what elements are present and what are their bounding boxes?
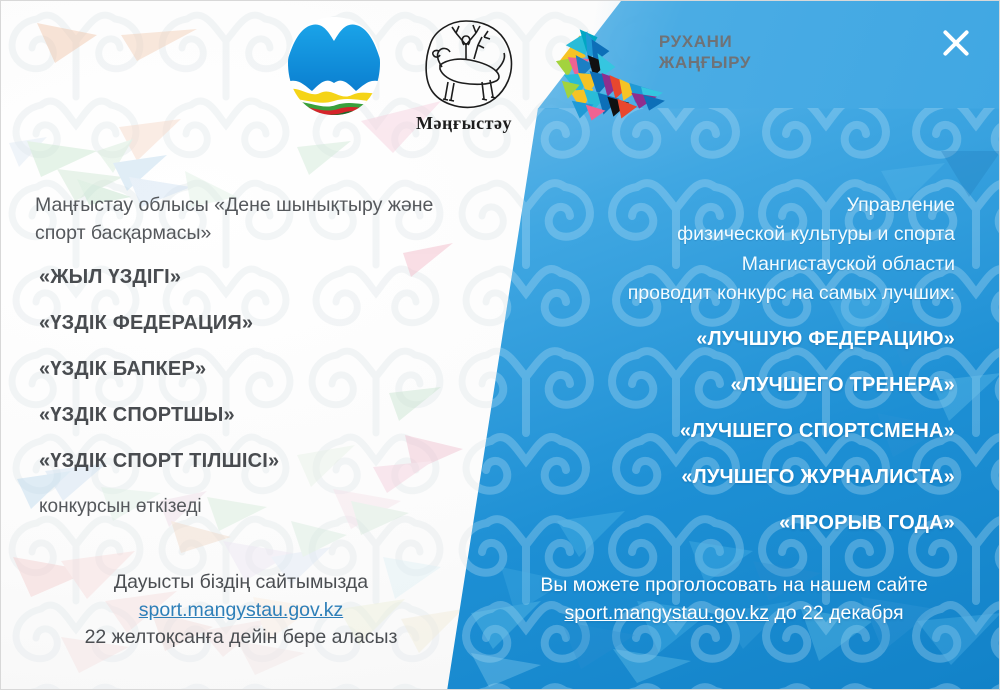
russian-nomination-5: «ПРОРЫВ ГОДА» bbox=[535, 512, 955, 535]
logo-row: Мәңғыстәу bbox=[286, 15, 746, 143]
russian-footer: Вы можете проголосовать на нашем сайте s… bbox=[499, 571, 969, 628]
kazakh-nomination-4: «ҮЗДІК СПОРТШЫ» bbox=[39, 404, 465, 427]
close-button[interactable] bbox=[939, 24, 973, 58]
kazakh-footer: Дауысты біздің сайтымызда sport.mangysta… bbox=[41, 569, 441, 652]
kazakh-nomination-3: «ҮЗДІК БАПКЕР» bbox=[39, 358, 465, 381]
kazakh-content: Маңғыстау облысы «Дене шынықтыру және сп… bbox=[35, 191, 465, 518]
russian-intro-line1: Управление bbox=[535, 191, 955, 220]
russian-intro: Управление физической культуры и спорта … bbox=[535, 191, 955, 308]
promo-poster: Мәңғыстәу bbox=[0, 0, 1000, 690]
russian-footer-line2: sport.mangystau.gov.kz до 22 декабря bbox=[499, 599, 969, 627]
kazakh-footer-deadline: 22 желтоқсанға дейін бере аласыз bbox=[41, 624, 441, 652]
rukhani-zhangyru-logo: РУХАНИЖАҢҒЫРУ bbox=[546, 15, 751, 125]
russian-footer-deadline: до 22 декабря bbox=[774, 602, 903, 624]
russian-intro-line4: проводит конкурс на самых лучших: bbox=[535, 279, 955, 308]
kazakh-nomination-5: «ҮЗДІК СПОРТ ТІЛШІСІ» bbox=[39, 450, 465, 473]
russian-footer-line1: Вы можете проголосовать на нашем сайте bbox=[499, 571, 969, 599]
kazakh-intro: Маңғыстау облысы «Дене шынықтыру және сп… bbox=[35, 191, 465, 248]
mangystau-region-emblem bbox=[286, 15, 382, 124]
kazakh-footer-line1: Дауысты біздің сайтымызда bbox=[41, 569, 441, 597]
petroglyph-mangystau-logo: Мәңғыстәу bbox=[404, 15, 524, 142]
russian-site-link[interactable]: sport.mangystau.gov.kz bbox=[564, 602, 768, 624]
russian-intro-line2: физической культуры и спорта bbox=[535, 220, 955, 249]
kazakh-nomination-1: «ЖЫЛ ҮЗДІГІ» bbox=[39, 266, 465, 289]
kazakh-outro: конкурсын өткізеді bbox=[39, 496, 465, 518]
russian-intro-line3: Мангистауской области bbox=[535, 250, 955, 279]
russian-nomination-2: «ЛУЧШЕГО ТРЕНЕРА» bbox=[535, 374, 955, 397]
russian-nomination-4: «ЛУЧШЕГО ЖУРНАЛИСТА» bbox=[535, 466, 955, 489]
russian-content: Управление физической культуры и спорта … bbox=[535, 191, 955, 558]
russian-nomination-1: «ЛУЧШУЮ ФЕДЕРАЦИЮ» bbox=[535, 328, 955, 351]
petroglyph-caption: Мәңғыстәу bbox=[416, 113, 512, 133]
kazakh-site-link[interactable]: sport.mangystau.gov.kz bbox=[41, 597, 441, 625]
rukhani-bird-icon bbox=[546, 15, 665, 125]
rukhani-zhangyru-wordmark: РУХАНИЖАҢҒЫРУ bbox=[659, 31, 751, 74]
russian-nomination-3: «ЛУЧШЕГО СПОРТСМЕНА» bbox=[535, 420, 955, 443]
kazakh-nomination-2: «ҮЗДІК ФЕДЕРАЦИЯ» bbox=[39, 312, 465, 335]
